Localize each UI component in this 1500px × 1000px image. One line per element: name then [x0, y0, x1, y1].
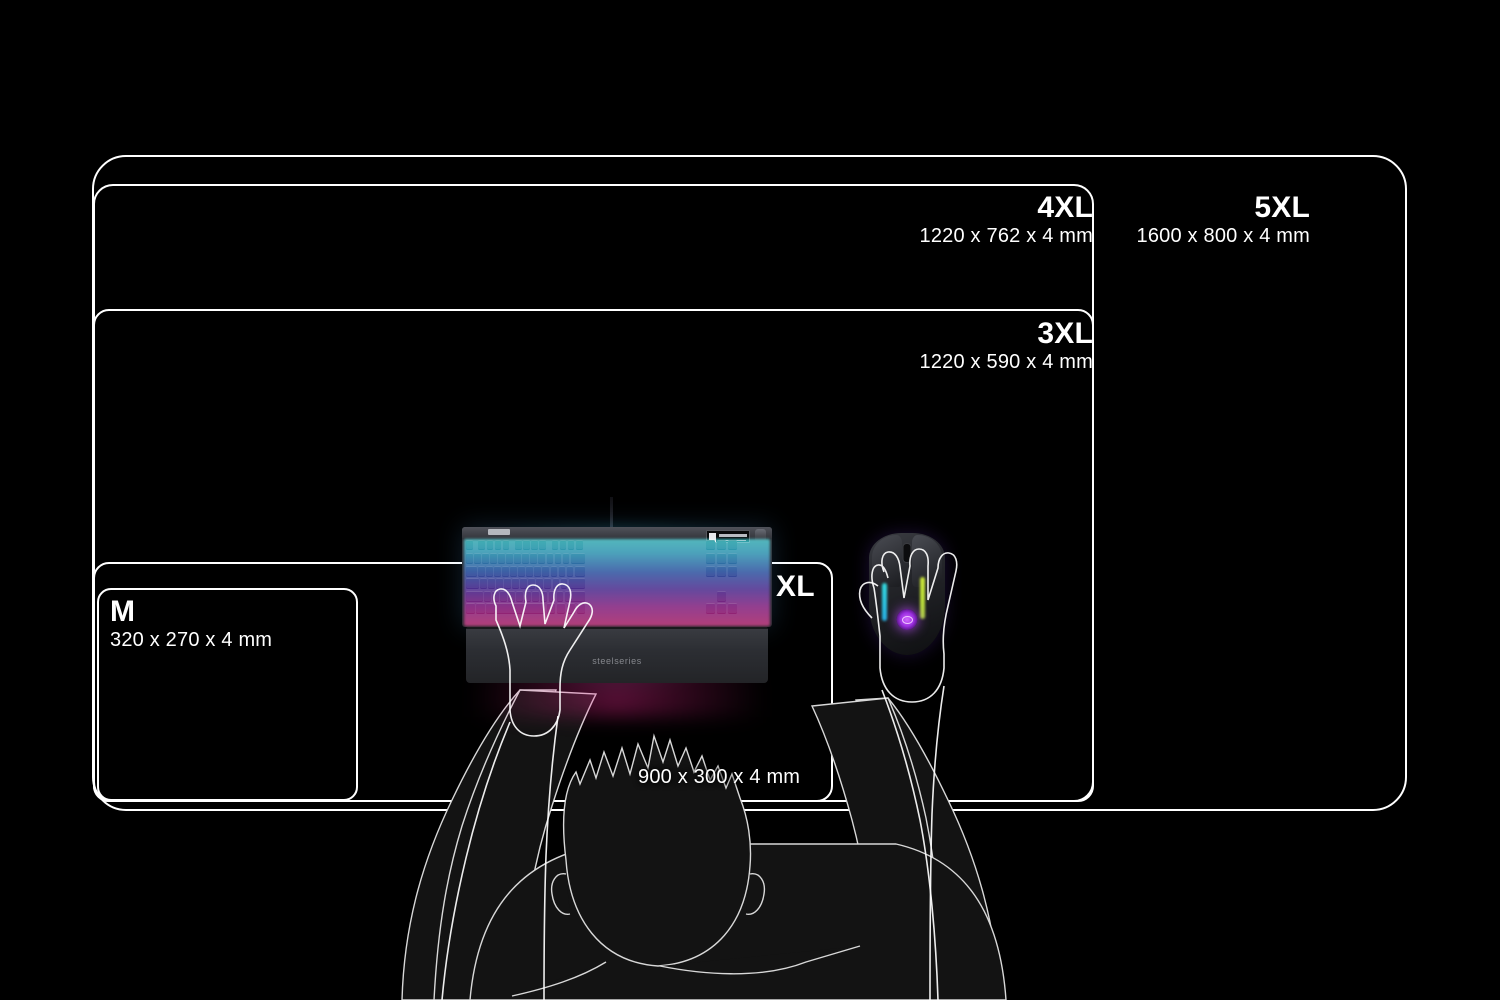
left-hand-outline — [494, 584, 592, 736]
label-m-size: M — [110, 596, 272, 628]
label-5xl-size: 5XL — [1137, 192, 1311, 224]
label-xl-dimensions: 900 x 300 x 4 mm — [638, 766, 800, 789]
label-xl-size: XL — [776, 571, 815, 603]
label-3xl-size: 3XL — [920, 318, 1094, 350]
label-5xl: 5XL 1600 x 800 x 4 mm — [1137, 192, 1311, 249]
label-4xl-size: 4XL — [920, 192, 1094, 224]
label-3xl: 3XL 1220 x 590 x 4 mm — [920, 318, 1094, 375]
right-hand-outline — [860, 549, 957, 702]
label-xl: XL — [776, 571, 815, 603]
label-3xl-dimensions: 1220 x 590 x 4 mm — [920, 350, 1094, 375]
size-comparison-canvas: steelseries 5XL 1600 x 800 x 4 mm — [0, 0, 1500, 1000]
label-4xl-dimensions: 1220 x 762 x 4 mm — [920, 224, 1094, 249]
label-m-dimensions: 320 x 270 x 4 mm — [110, 628, 272, 653]
label-m: M 320 x 270 x 4 mm — [110, 596, 272, 653]
label-4xl: 4XL 1220 x 762 x 4 mm — [920, 192, 1094, 249]
hand-outlines — [0, 0, 1500, 1000]
label-5xl-dimensions: 1600 x 800 x 4 mm — [1137, 224, 1311, 249]
